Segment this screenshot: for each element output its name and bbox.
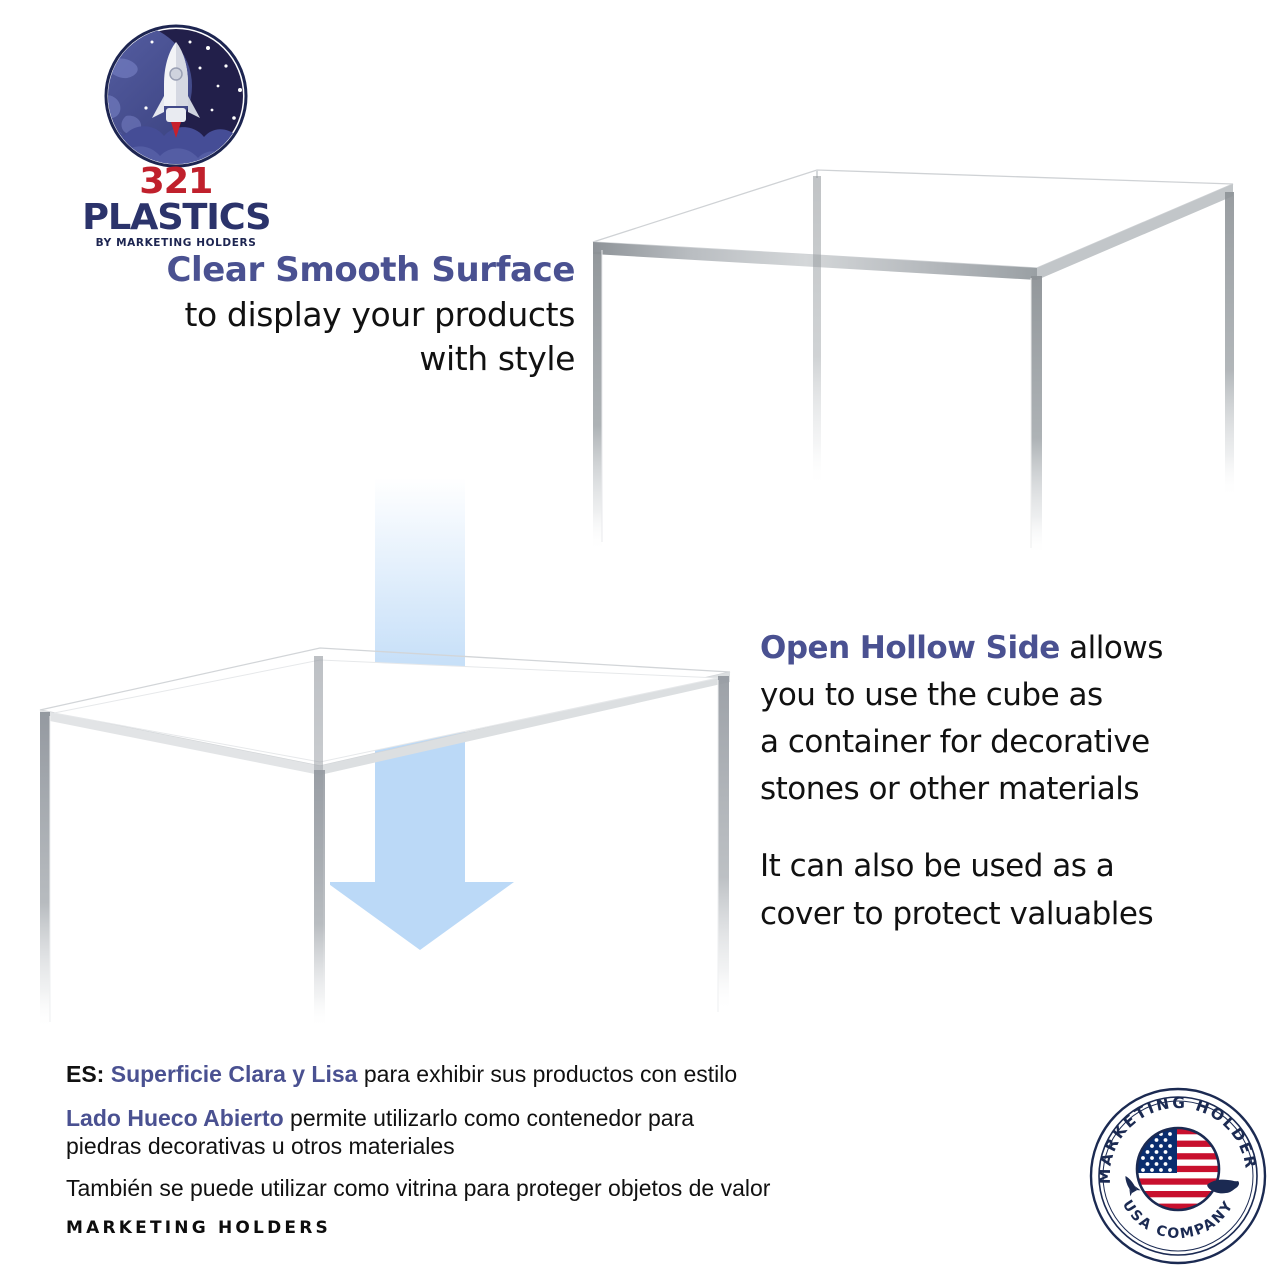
body-line-3: a container for decorative bbox=[760, 719, 1230, 766]
logo-wordmark-number: 321 bbox=[140, 164, 213, 200]
spanish-line-2: Lado Hueco Abierto permite utilizarlo co… bbox=[66, 1104, 966, 1160]
spanish-line-2-accent: Lado Hueco Abierto bbox=[66, 1105, 284, 1131]
logo-wordmark: 321PLASTICS BY MARKETING HOLDERS bbox=[68, 164, 284, 249]
logo-wordmark-word: PLASTICS bbox=[82, 200, 270, 236]
body-line-2: you to use the cube as bbox=[760, 672, 1230, 719]
headline-line-2: to display your products bbox=[110, 293, 575, 337]
spanish-line-2-wrap: piedras decorativas u otros materiales bbox=[66, 1133, 455, 1159]
body-line-4: stones or other materials bbox=[760, 766, 1230, 813]
spanish-line-1-accent: Superficie Clara y Lisa bbox=[111, 1061, 358, 1087]
spanish-line-1-rest: para exhibir sus productos con estilo bbox=[357, 1061, 737, 1087]
marketing-holders-usa-seal: MARKETING HOLDERS USA COMPANY bbox=[1088, 1086, 1268, 1266]
body-accent: Open Hollow Side bbox=[760, 630, 1060, 666]
body-para2-line-2: cover to protect valuables bbox=[760, 891, 1230, 938]
poster-canvas: 321PLASTICS BY MARKETING HOLDERS bbox=[0, 0, 1280, 1280]
headline-line-3: with style bbox=[110, 337, 575, 381]
acrylic-display-cube-closed-top bbox=[585, 150, 1250, 550]
acrylic-display-cube-open-hollow bbox=[18, 620, 763, 1050]
body-text-block: Open Hollow Side allows you to use the c… bbox=[760, 625, 1230, 938]
headline-text-block: Clear Smooth Surface to display your pro… bbox=[110, 248, 575, 381]
headline-accent: Clear Smooth Surface bbox=[110, 248, 575, 293]
rocket-earth-icon bbox=[90, 24, 262, 174]
footer-brand-text: MARKETING HOLDERS bbox=[66, 1218, 331, 1238]
logo-tagline: BY MARKETING HOLDERS bbox=[68, 238, 284, 249]
spanish-line-2-rest: permite utilizarlo como contenedor para bbox=[284, 1105, 694, 1131]
brand-logo: 321PLASTICS BY MARKETING HOLDERS bbox=[68, 24, 284, 214]
body-para2-line-1: It can also be used as a bbox=[760, 843, 1230, 890]
body-line-1: Open Hollow Side allows bbox=[760, 625, 1230, 672]
spanish-text-block: ES: Superficie Clara y Lisa para exhibir… bbox=[66, 1060, 966, 1218]
spanish-prefix: ES: bbox=[66, 1061, 104, 1087]
spanish-line-3: También se puede utilizar como vitrina p… bbox=[66, 1174, 966, 1202]
body-line-1-rest: allows bbox=[1060, 630, 1163, 666]
spanish-line-1: ES: Superficie Clara y Lisa para exhibir… bbox=[66, 1060, 966, 1088]
paragraph-spacer bbox=[760, 813, 1230, 843]
